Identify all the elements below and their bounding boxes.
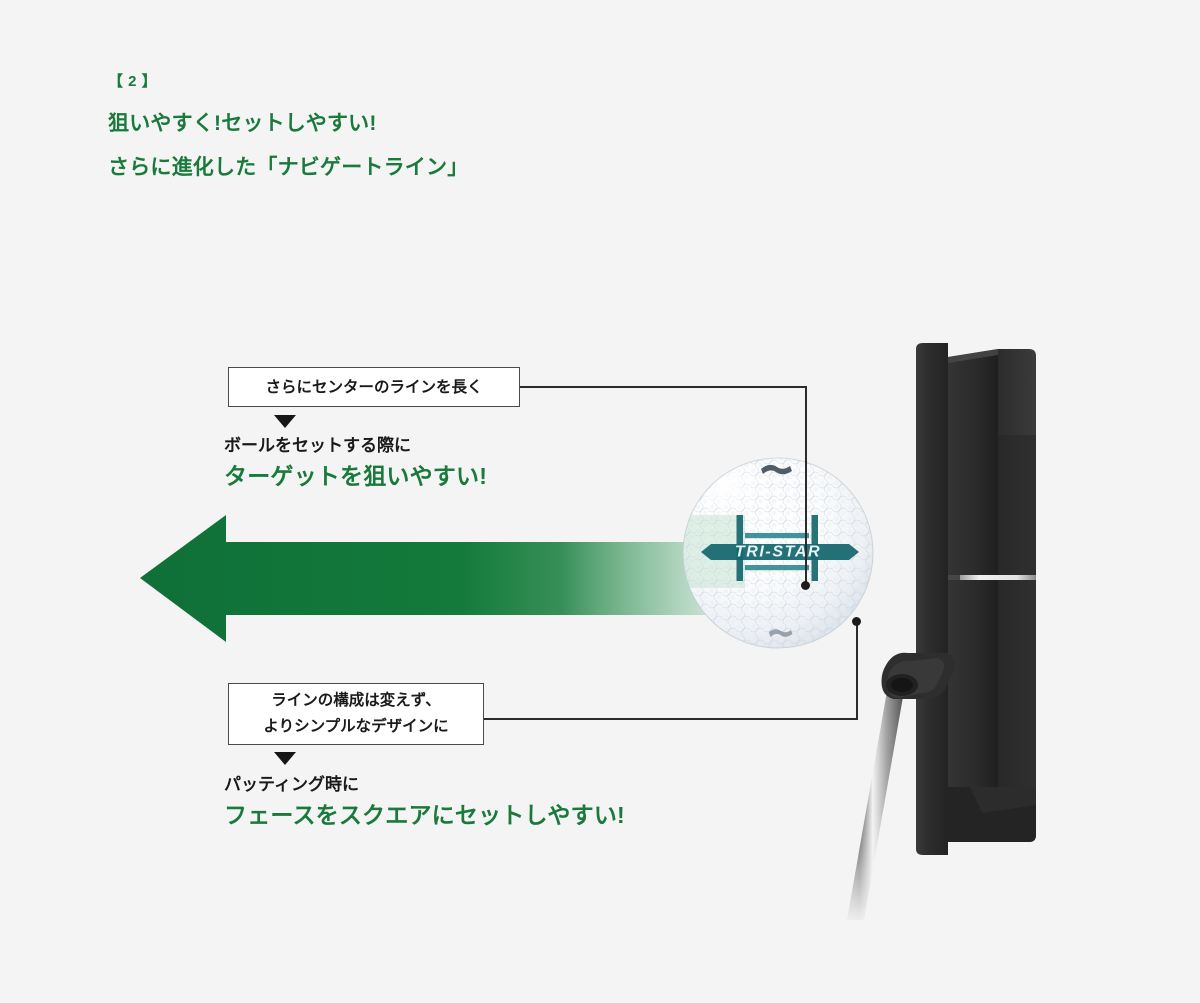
- putter-blade: [916, 343, 1036, 855]
- callout-box-bottom-line2: よりシンプルなデザインに: [239, 714, 473, 740]
- annotation-bottom-sub: パッティング時に: [224, 771, 625, 798]
- callout-box-top: さらにセンターのラインを長く: [228, 367, 520, 407]
- annotation-bottom-emphasis: フェースをスクエアにセットしやすい!: [224, 798, 625, 832]
- annotation-top: ボールをセットする際に ターゲットを狙いやすい!: [224, 432, 487, 493]
- page-root: 【 2 】 狙いやすく!セットしやすい! さらに進化した「ナビゲートライン」: [0, 0, 1200, 1003]
- leader-line-bottom-horizontal: [484, 718, 858, 720]
- putter-shaft: [847, 691, 904, 920]
- callout-box-bottom: ラインの構成は変えず、 よりシンプルなデザインに: [228, 683, 484, 745]
- leader-line-bottom-vertical: [856, 621, 858, 720]
- annotation-top-sub: ボールをセットする際に: [224, 432, 487, 459]
- callout-box-bottom-line1: ラインの構成は変えず、: [239, 688, 473, 714]
- leader-dot-bottom: [852, 617, 861, 626]
- putter-head: [830, 335, 1060, 925]
- triangle-marker-bottom: [274, 752, 296, 765]
- ball-brand-text: TRI-STAR: [735, 544, 821, 561]
- annotation-top-emphasis: ターゲットを狙いやすい!: [224, 459, 487, 493]
- callout-box-top-text: さらにセンターのラインを長く: [239, 375, 509, 400]
- alignment-line: [960, 575, 1036, 580]
- annotation-bottom: パッティング時に フェースをスクエアにセットしやすい!: [224, 771, 625, 832]
- leader-dot-top: [801, 581, 810, 590]
- leader-line-top-vertical: [805, 386, 807, 586]
- triangle-marker-top: [274, 415, 296, 428]
- product-illustration: TRI-STAR: [0, 0, 1200, 1003]
- leader-line-top-horizontal: [520, 386, 806, 388]
